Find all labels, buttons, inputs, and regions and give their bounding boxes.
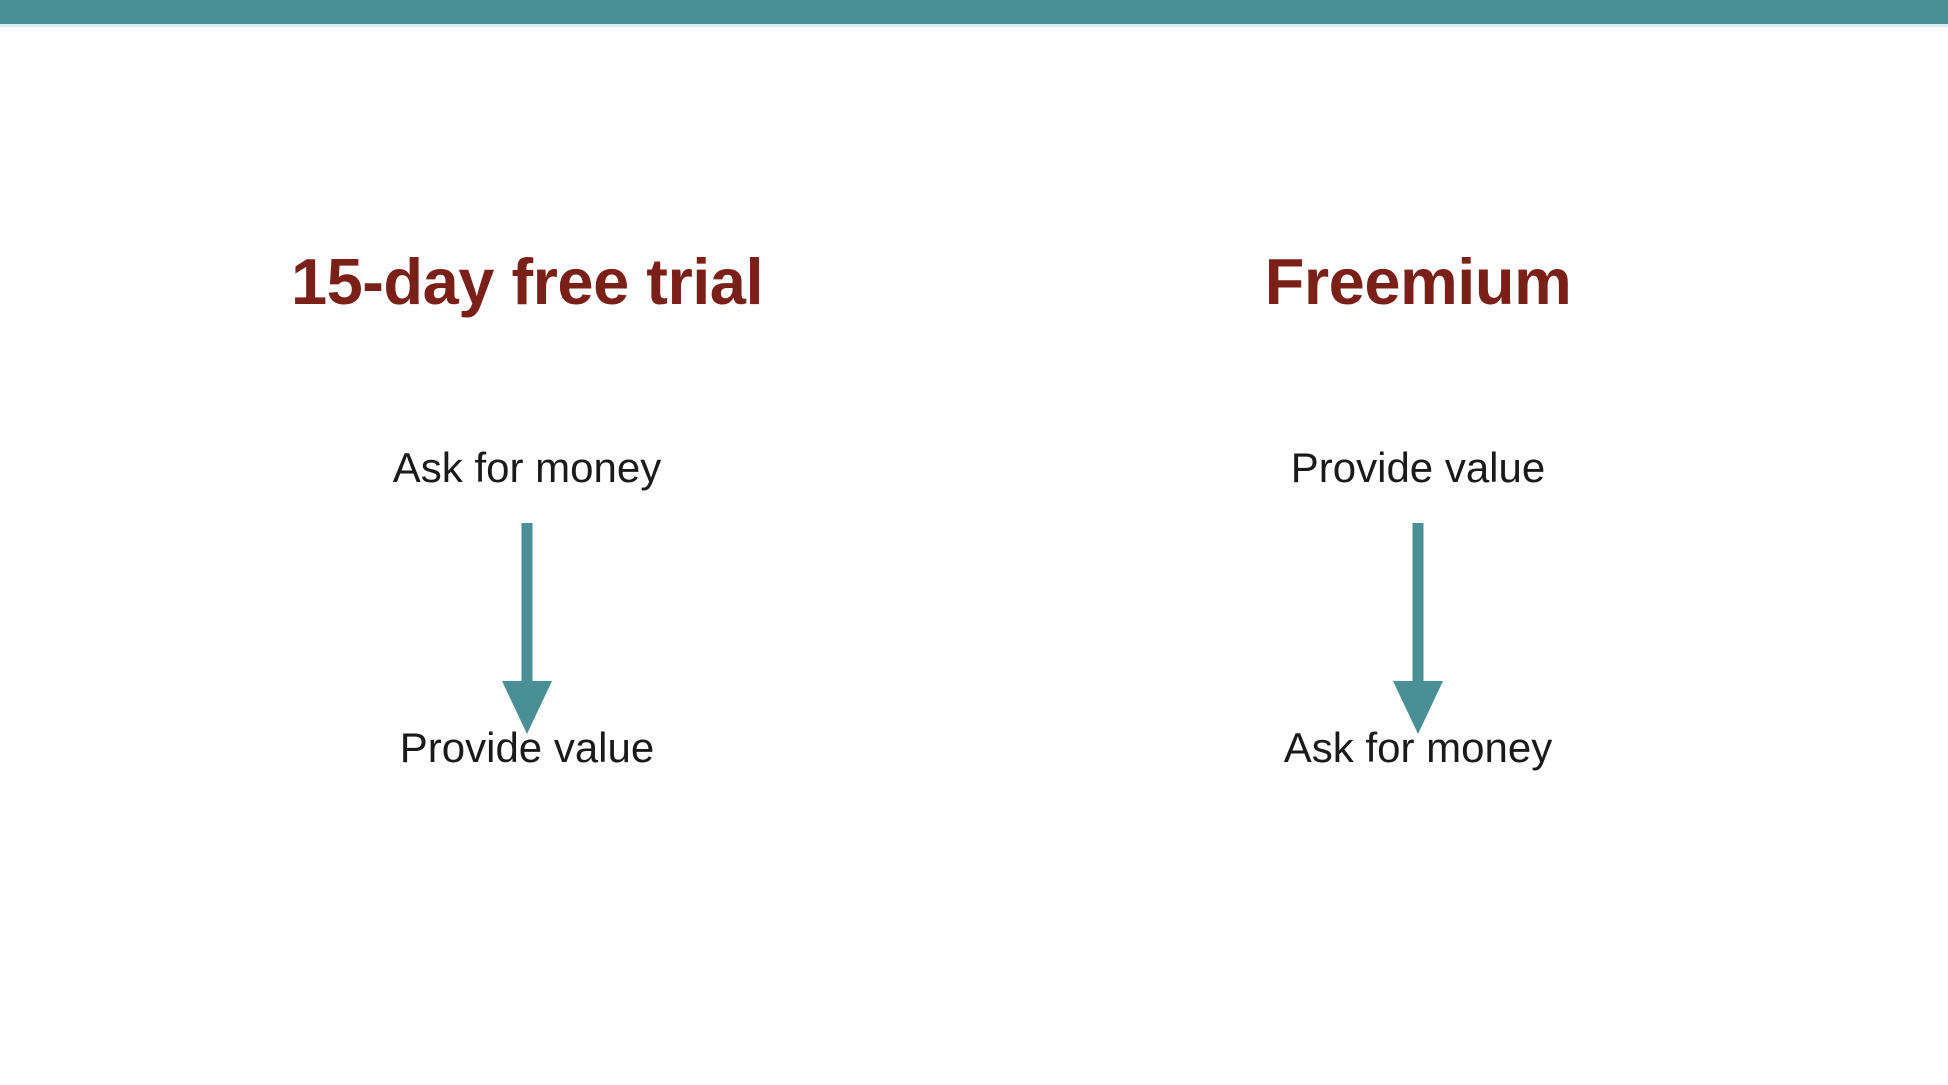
slide-canvas: 15-day free trial Ask for money Provide … [0, 0, 1948, 1085]
arrow-down-icon [1392, 523, 1444, 735]
column-title-free-trial: 15-day free trial [177, 249, 877, 314]
top-accent-bar [0, 0, 1948, 24]
arrow-down-icon [501, 523, 553, 735]
comparison-columns: 15-day free trial Ask for money Provide … [0, 27, 1948, 1085]
column-step-free-trial-2: Provide value [177, 727, 877, 769]
column-freemium: Freemium Provide value Ask for money [1068, 27, 1768, 1085]
arrow-free-trial [177, 523, 877, 738]
column-step-freemium-2: Ask for money [1068, 727, 1768, 769]
column-step-freemium-1: Provide value [1068, 447, 1768, 489]
column-title-freemium: Freemium [1068, 249, 1768, 314]
column-step-free-trial-1: Ask for money [177, 447, 877, 489]
arrow-freemium [1068, 523, 1768, 738]
column-free-trial: 15-day free trial Ask for money Provide … [177, 27, 877, 1085]
